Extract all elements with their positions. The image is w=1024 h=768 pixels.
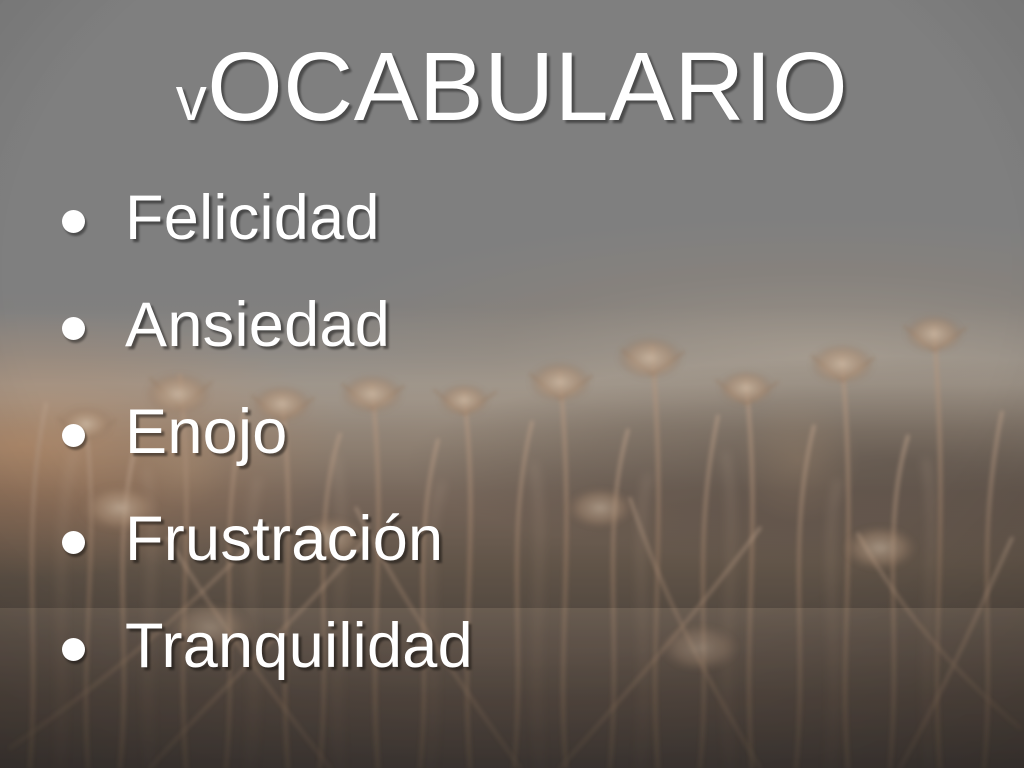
list-item-label: Tranquilidad: [125, 615, 473, 678]
list-item-label: Enojo: [125, 401, 288, 464]
slide-title: vOCABULARIO: [0, 38, 1024, 135]
list-item-label: Ansiedad: [125, 294, 390, 357]
presentation-slide: vOCABULARIO Felicidad Ansiedad Enojo Fru…: [0, 0, 1024, 768]
list-item-label: Felicidad: [125, 187, 380, 250]
list-item: Frustración: [0, 489, 473, 596]
slide-title-lead: v: [176, 65, 208, 134]
bullet-circle-icon: [62, 317, 85, 340]
list-item-label: Frustración: [125, 508, 443, 571]
list-item: Ansiedad: [0, 275, 473, 382]
list-item: Tranquilidad: [0, 596, 473, 703]
slide-title-rest: OCABULARIO: [207, 32, 848, 141]
bullet-circle-icon: [62, 424, 85, 447]
bullet-circle-icon: [62, 638, 85, 661]
slide-content: vOCABULARIO Felicidad Ansiedad Enojo Fru…: [0, 0, 1024, 768]
list-item: Felicidad: [0, 168, 473, 275]
bullet-circle-icon: [62, 210, 85, 233]
vocabulary-list: Felicidad Ansiedad Enojo Frustración Tra…: [0, 168, 473, 703]
list-item: Enojo: [0, 382, 473, 489]
bullet-circle-icon: [62, 531, 85, 554]
